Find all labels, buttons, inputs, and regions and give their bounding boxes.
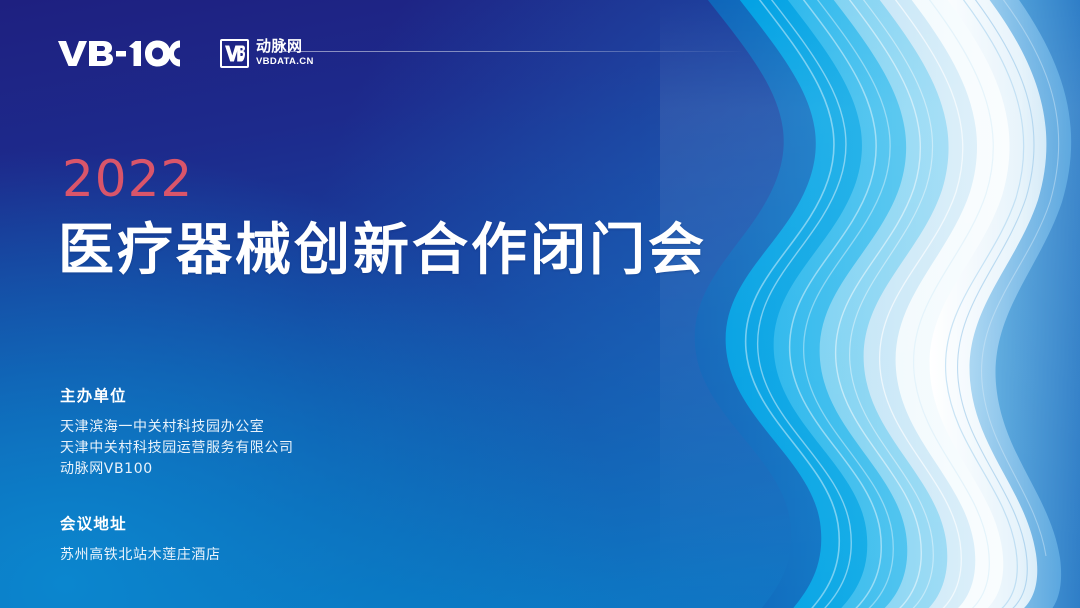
page-title: 医疗器械创新合作闭门会 <box>58 222 707 281</box>
poster-canvas: 动脉网 VBDATA.CN 2022 医疗器械创新合作闭门会 主办单位 天津滨海… <box>0 0 1080 608</box>
poster-header: 动脉网 VBDATA.CN <box>58 30 1080 76</box>
host-info-block: 主办单位 天津滨海一中关村科技园办公室 天津中关村科技园运营服务有限公司 动脉网… <box>60 384 294 480</box>
vbdata-cn-label: 动脉网 <box>256 39 314 54</box>
vb-100-logo <box>58 38 180 68</box>
host-line: 天津中关村科技园运营服务有限公司 <box>60 438 294 459</box>
host-line: 动脉网VB100 <box>60 459 294 480</box>
host-heading: 主办单位 <box>60 384 294 406</box>
vbdata-en-label: VBDATA.CN <box>256 57 314 67</box>
vb-monogram-icon <box>220 39 249 68</box>
venue-info-block: 会议地址 苏州高铁北站木莲庄酒店 <box>60 512 221 566</box>
venue-line: 苏州高铁北站木莲庄酒店 <box>60 545 221 566</box>
header-divider <box>283 51 745 52</box>
wave-decoration <box>660 0 1080 608</box>
vbdata-wordmark: 动脉网 VBDATA.CN <box>256 39 314 67</box>
vbdata-logo: 动脉网 VBDATA.CN <box>220 39 314 68</box>
host-line: 天津滨海一中关村科技园办公室 <box>60 417 294 438</box>
venue-heading: 会议地址 <box>60 512 221 534</box>
event-year: 2022 <box>62 150 193 208</box>
